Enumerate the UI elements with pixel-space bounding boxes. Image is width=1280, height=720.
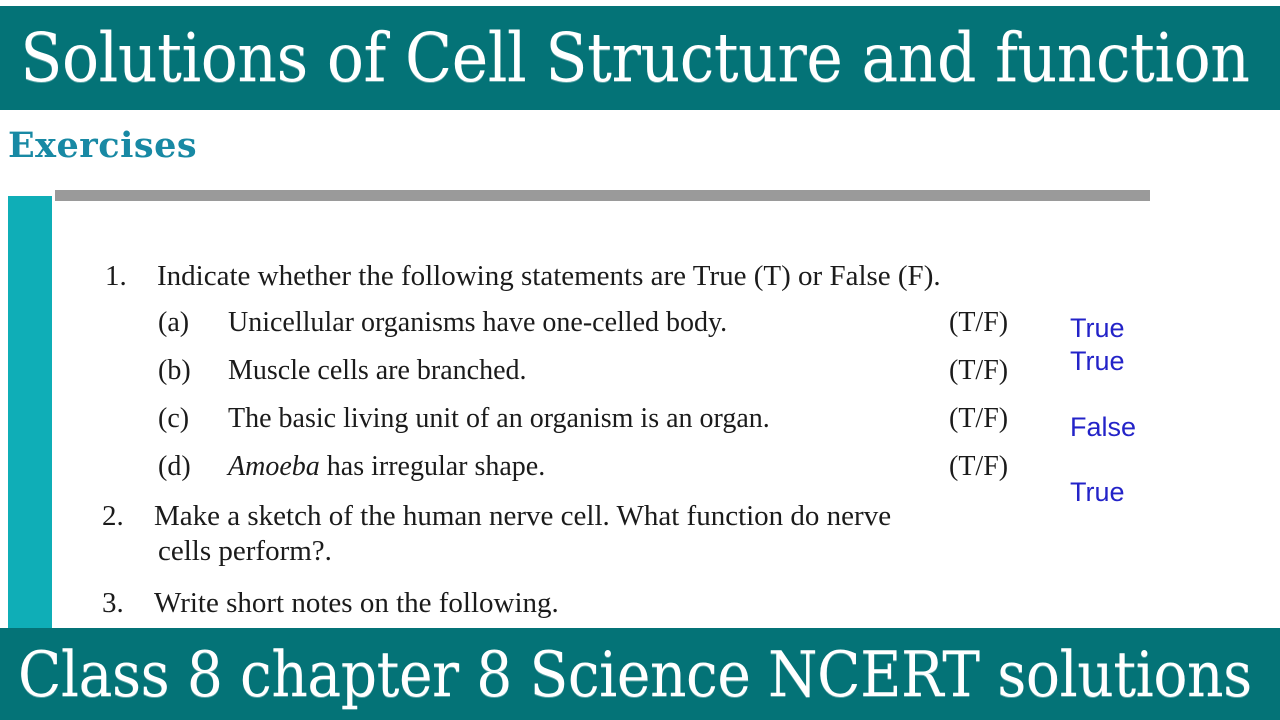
subitem-row-b: (b) Muscle cells are branched. xyxy=(158,357,527,385)
textbook-content-sheet: 1. Indicate whether the following statem… xyxy=(56,201,1280,628)
tf-marker-b: (T/F) xyxy=(949,357,1008,385)
question-number-2: 2. xyxy=(102,502,154,531)
subitem-row-c: (c) The basic living unit of an organism… xyxy=(158,405,770,433)
bottom-title-banner: Class 8 chapter 8 Science NCERT solution… xyxy=(0,628,1280,720)
tf-marker-d: (T/F) xyxy=(949,453,1008,481)
subitem-text-d-italic: Amoeba xyxy=(228,451,320,482)
horizontal-rule xyxy=(55,190,1150,201)
tf-marker-c: (T/F) xyxy=(949,405,1008,433)
bottom-caption: Class 8 chapter 8 Science NCERT solution… xyxy=(0,643,1252,706)
answer-d: True xyxy=(1070,479,1125,506)
answer-a: True xyxy=(1070,315,1125,342)
subitem-label-a: (a) xyxy=(158,309,228,337)
answer-c: False xyxy=(1070,414,1136,441)
subitem-row-a: (a) Unicellular organisms have one-celle… xyxy=(158,309,727,337)
question-row-1: 1. Indicate whether the following statem… xyxy=(105,259,941,293)
subitem-label-d: (d) xyxy=(158,453,228,481)
question-text-3: Write short notes on the following. xyxy=(154,586,559,620)
left-accent-bar xyxy=(8,196,52,640)
top-title-banner: Solutions of Cell Structure and function xyxy=(0,6,1280,110)
question-text-2: Make a sketch of the human nerve cell. W… xyxy=(154,499,891,533)
question-text-1: Indicate whether the following statement… xyxy=(157,259,941,293)
subitem-text-d: Amoeba has irregular shape. xyxy=(228,453,545,481)
slide-stage: Solutions of Cell Structure and function… xyxy=(0,0,1280,720)
subitem-text-a: Unicellular organisms have one-celled bo… xyxy=(228,309,727,337)
subitem-text-b: Muscle cells are branched. xyxy=(228,357,527,385)
question-number-3: 3. xyxy=(102,589,154,618)
subitem-row-d: (d) Amoeba has irregular shape. xyxy=(158,453,545,481)
subitem-label-b: (b) xyxy=(158,357,228,385)
answer-b: True xyxy=(1070,348,1125,375)
subitem-label-c: (c) xyxy=(158,405,228,433)
section-heading-exercises: Exercises xyxy=(8,128,197,163)
subitem-text-c: The basic living unit of an organism is … xyxy=(228,405,770,433)
question-row-2: 2. Make a sketch of the human nerve cell… xyxy=(102,499,891,533)
question-row-3: 3. Write short notes on the following. xyxy=(102,586,559,620)
question-text-2-line2: cells perform?. xyxy=(158,537,332,566)
subitem-text-d-rest: has irregular shape. xyxy=(320,451,545,482)
slide-title: Solutions of Cell Structure and function xyxy=(0,25,1250,92)
question-number-1: 1. xyxy=(105,262,157,291)
tf-marker-a: (T/F) xyxy=(949,309,1008,337)
